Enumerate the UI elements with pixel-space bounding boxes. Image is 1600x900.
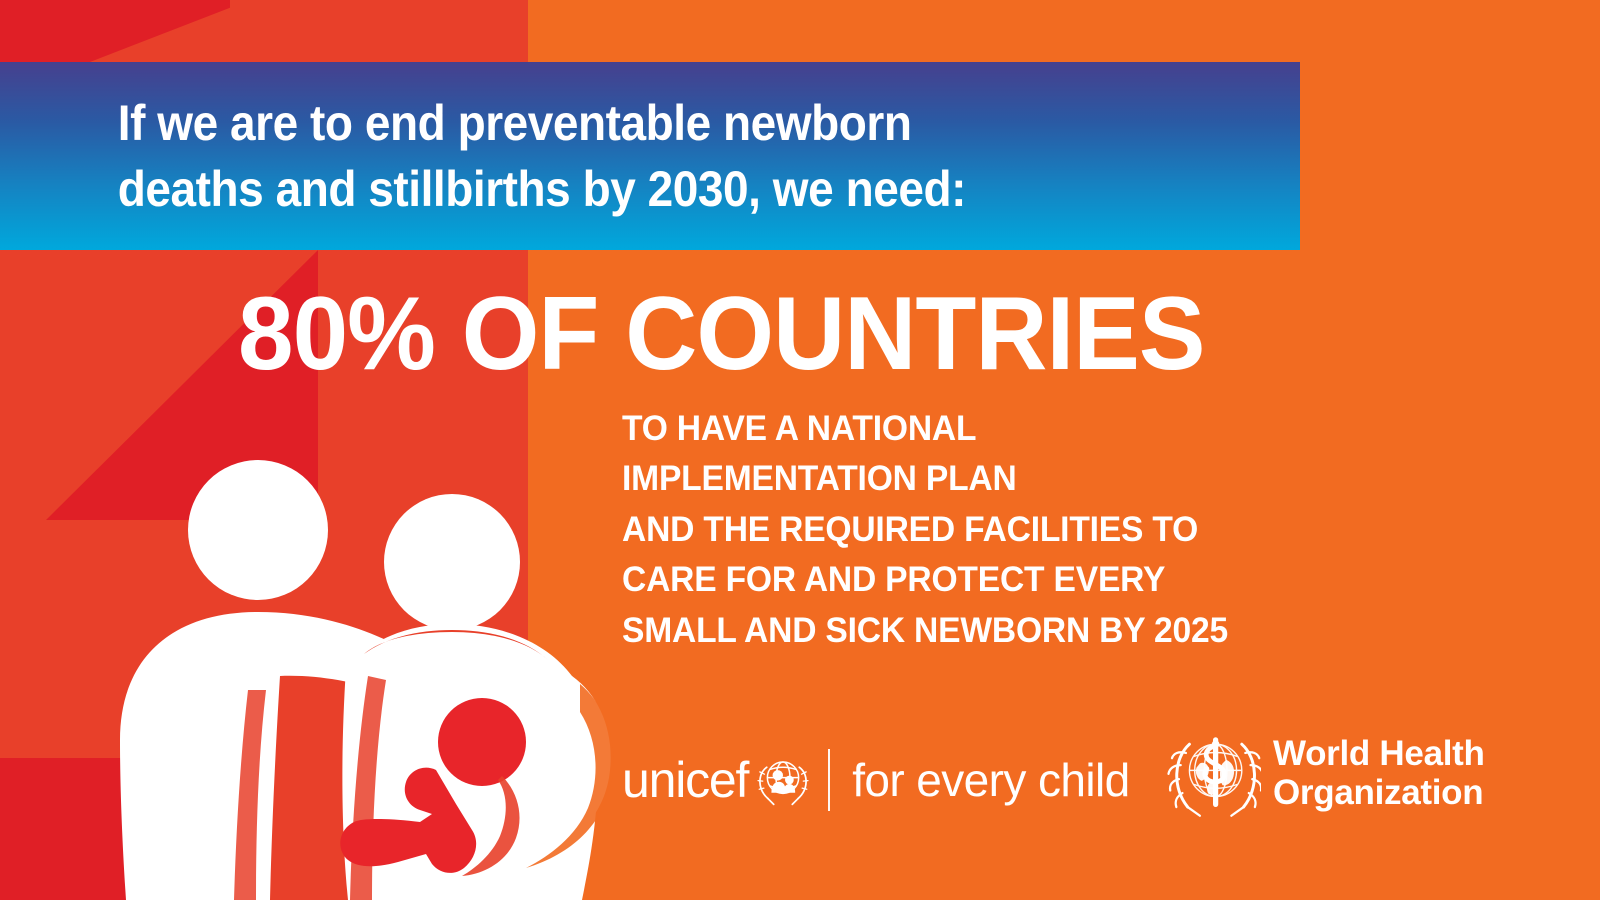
who-organization-name: World Health Organization	[1273, 734, 1485, 812]
statistic-headline: 80% OF COUNTRIES	[238, 282, 1205, 386]
body-copy-text: TO HAVE A NATIONAL IMPLEMENTATION PLAN A…	[622, 404, 1448, 656]
unicef-logo: unicef	[622, 742, 1130, 818]
who-logo: World Health Organization	[1165, 724, 1485, 822]
unicef-wordmark: unicef	[622, 755, 748, 805]
unicef-tagline: for every child	[852, 757, 1129, 803]
parents-holding-newborn-illustration	[80, 440, 640, 900]
un-globe-mother-child-emblem-icon	[754, 751, 812, 809]
infographic-poster: If we are to end preventable newborn dea…	[0, 0, 1600, 900]
header-banner: If we are to end preventable newborn dea…	[0, 62, 1300, 250]
who-globe-asclepius-laurel-emblem-icon	[1165, 725, 1261, 821]
banner-headline-text: If we are to end preventable newborn dea…	[0, 90, 994, 223]
logo-divider	[828, 749, 830, 811]
